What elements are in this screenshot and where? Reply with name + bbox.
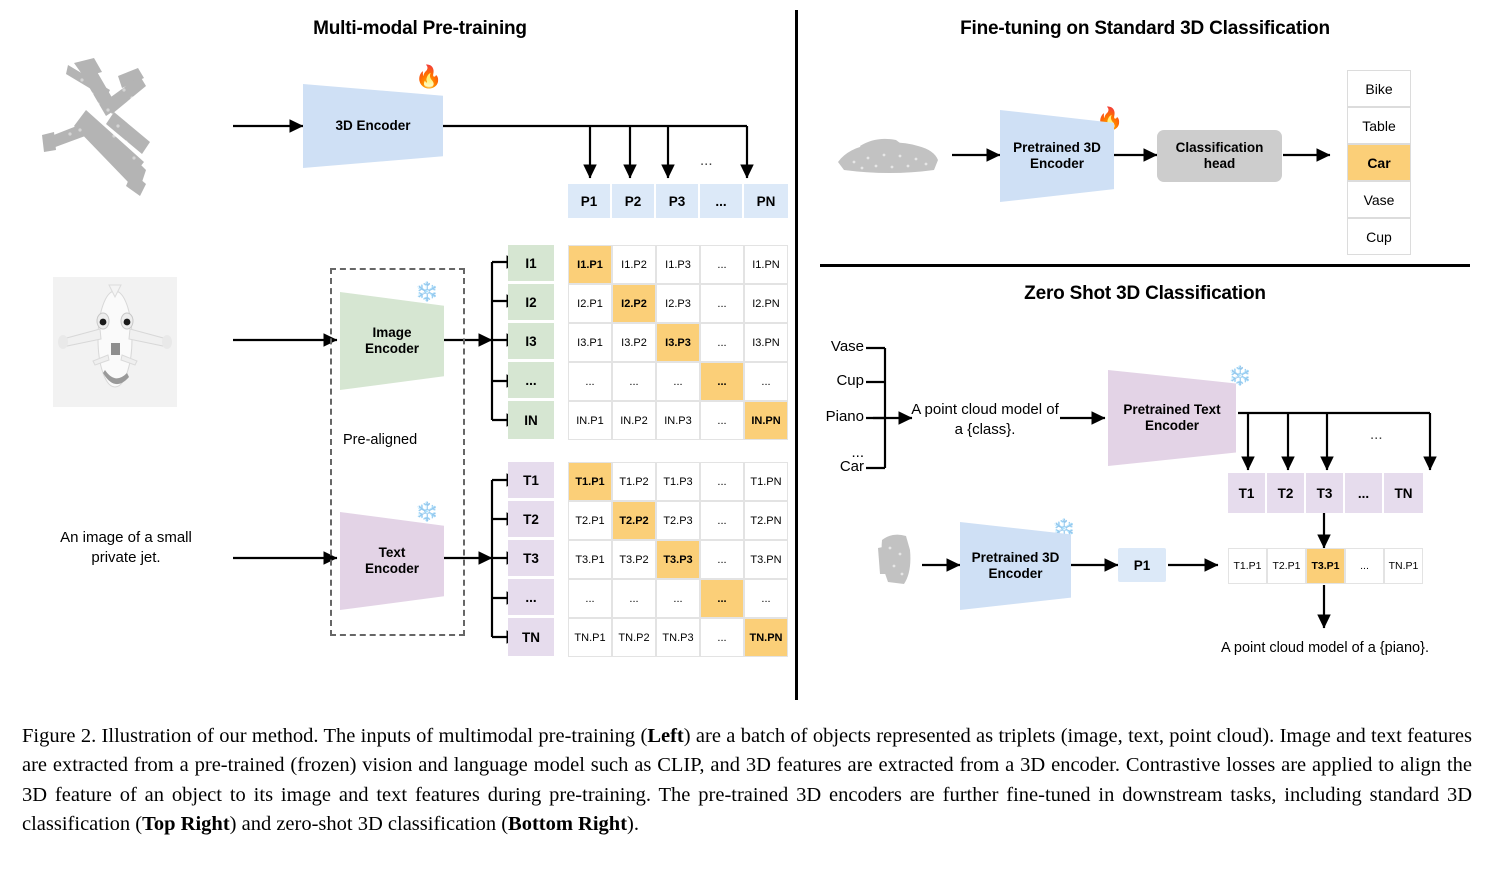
zs-sim-cell-2: T3.P1 (1306, 548, 1345, 584)
pretrained-3d-encoder-label-topright: Pretrained 3DEncoder (1013, 140, 1101, 171)
text-matrix-cell-4-4: TN.PN (744, 618, 788, 657)
snowflake-emoji-image-encoder: ❄️ (415, 283, 439, 302)
text-matrix-cell-0-3: ... (700, 462, 744, 501)
text-matrix-cell-4-0: TN.P1 (568, 618, 612, 657)
airplane-point-cloud (22, 50, 222, 210)
text-matrix-cell-2-1: T3.P2 (612, 540, 656, 579)
text-tag-ellipsis: ... (508, 579, 554, 617)
zs-text-tag-t1: T1 (1228, 473, 1267, 513)
fire-emoji-pretrain: 🔥 (415, 66, 442, 88)
image-matrix-cell-1-4: I2.PN (744, 284, 788, 323)
image-matrix-cell-0-0: I1.P1 (568, 245, 612, 284)
image-matrix-cell-4-1: IN.P2 (612, 401, 656, 440)
image-matrix-cell-0-4: I1.PN (744, 245, 788, 284)
text-matrix-cell-1-1: T2.P2 (612, 501, 656, 540)
text-matrix-cell-3-3: ... (700, 579, 744, 618)
zs-text-tag-...: ... (1345, 473, 1384, 513)
prompt-template-text: A point cloud model of a {class}. (905, 400, 1065, 441)
classification-head-box: Classificationhead (1157, 130, 1282, 182)
text-matrix-cell-0-2: T1.P3 (656, 462, 700, 501)
image-matrix-cell-0-3: ... (700, 245, 744, 284)
caption-bold-topright: Top Right (142, 813, 230, 835)
image-matrix-cell-4-4: IN.PN (744, 401, 788, 440)
prealigned-label: Pre-aligned (343, 432, 417, 448)
text-matrix-cell-1-4: T2.PN (744, 501, 788, 540)
text-matrix-cell-2-0: T3.P1 (568, 540, 612, 579)
text-matrix-cell-4-2: TN.P3 (656, 618, 700, 657)
image-matrix-cell-4-3: ... (700, 401, 744, 440)
point-feature-p1-zeroshot: P1 (1118, 548, 1166, 582)
image-matrix-cell-1-3: ... (700, 284, 744, 323)
image-tag-i2: I2 (508, 284, 554, 322)
figure-caption: Figure 2. Illustration of our method. Th… (22, 722, 1472, 839)
image-tag-ellipsis: ... (508, 362, 554, 400)
text-input-caption: An image of a small private jet. (36, 528, 216, 569)
encoder-3d-box: 3D Encoder (303, 84, 443, 168)
image-matrix-cell-2-3: ... (700, 323, 744, 362)
point-row-ellipsis-top: ... (700, 152, 713, 169)
text-tag-tn: TN (508, 618, 554, 656)
zeroshot-result-text: A point cloud model of a {piano}. (1200, 640, 1450, 656)
text-tag-t2: T2 (508, 501, 554, 539)
zs-bus-ellipsis: ... (1370, 426, 1383, 443)
zs-class-vase: Vase (820, 338, 864, 355)
caption-bold-bottomright: Bottom Right (508, 813, 627, 835)
image-matrix-cell-0-1: I1.P2 (612, 245, 656, 284)
car-point-cloud (830, 128, 945, 184)
caption-bold-left: Left (647, 725, 683, 747)
text-matrix-cell-2-4: T3.PN (744, 540, 788, 579)
class-item-cup[interactable]: Cup (1347, 218, 1411, 255)
point-feature-pn: PN (744, 184, 788, 218)
pretrained-3d-encoder-box-topright: Pretrained 3DEncoder (1000, 110, 1114, 202)
image-encoder-label: ImageEncoder (365, 325, 419, 356)
image-matrix-cell-3-4: ... (744, 362, 788, 401)
image-matrix-cell-1-2: I2.P3 (656, 284, 700, 323)
text-encoder-label: TextEncoder (365, 545, 419, 576)
image-matrix-cell-3-1: ... (612, 362, 656, 401)
zs-sim-cell-4: TN.P1 (1384, 548, 1423, 584)
zs-sim-cell-3: ... (1345, 548, 1384, 584)
image-matrix-cell-3-3: ... (700, 362, 744, 401)
text-matrix-cell-3-2: ... (656, 579, 700, 618)
point-feature-ellipsis: ... (700, 184, 744, 218)
image-matrix-cell-2-4: I3.PN (744, 323, 788, 362)
text-matrix-cell-3-0: ... (568, 579, 612, 618)
image-matrix-cell-4-2: IN.P3 (656, 401, 700, 440)
text-matrix-cell-3-4: ... (744, 579, 788, 618)
caption-part-3: ) and zero-shot 3D classification ( (230, 813, 508, 835)
image-matrix-cell-1-0: I2.P1 (568, 284, 612, 323)
rendered-jet-image (53, 277, 177, 407)
image-matrix-cell-3-0: ... (568, 362, 612, 401)
pretrained-3d-encoder-box-zeroshot: Pretrained 3DEncoder (960, 522, 1071, 610)
class-item-vase[interactable]: Vase (1347, 181, 1411, 218)
text-encoder-box: TextEncoder (340, 512, 444, 610)
pretrained-3d-encoder-label-zeroshot: Pretrained 3DEncoder (972, 550, 1060, 581)
image-matrix-cell-2-2: I3.P3 (656, 323, 700, 362)
text-tag-t1: T1 (508, 462, 554, 500)
class-item-car[interactable]: Car (1347, 144, 1411, 181)
text-matrix-cell-1-0: T2.P1 (568, 501, 612, 540)
text-matrix-cell-0-1: T1.P2 (612, 462, 656, 501)
horizontal-divider (820, 264, 1470, 267)
text-matrix-cell-1-2: T2.P3 (656, 501, 700, 540)
text-matrix-cell-4-1: TN.P2 (612, 618, 656, 657)
zs-text-tag-tn: TN (1384, 473, 1423, 513)
text-matrix-cell-2-2: T3.P3 (656, 540, 700, 579)
image-matrix-cell-1-1: I2.P2 (612, 284, 656, 323)
text-matrix-cell-4-3: ... (700, 618, 744, 657)
classification-head-label: Classificationhead (1176, 140, 1264, 172)
image-tag-i3: I3 (508, 323, 554, 361)
text-matrix-cell-2-3: ... (700, 540, 744, 579)
zs-class-cup: Cup (820, 372, 864, 389)
pretrained-text-encoder-label: Pretrained TextEncoder (1123, 402, 1220, 433)
caption-part-1: Figure 2. Illustration of our method. Th… (22, 725, 647, 747)
text-matrix-cell-3-1: ... (612, 579, 656, 618)
zs-text-tag-t2: T2 (1267, 473, 1306, 513)
class-item-table[interactable]: Table (1347, 107, 1411, 144)
zs-sim-cell-1: T2.P1 (1267, 548, 1306, 584)
zs-class-piano: Piano (820, 408, 864, 425)
image-tag-i1: I1 (508, 245, 554, 283)
panel-title-zeroshot: Zero Shot 3D Classification (910, 283, 1380, 305)
image-matrix-cell-0-2: I1.P3 (656, 245, 700, 284)
vertical-divider (795, 10, 798, 700)
text-matrix-cell-0-4: T1.PN (744, 462, 788, 501)
point-feature-p2: P2 (612, 184, 656, 218)
image-matrix-cell-2-1: I3.P2 (612, 323, 656, 362)
text-matrix-cell-1-3: ... (700, 501, 744, 540)
snowflake-emoji-text-encoder: ❄️ (415, 503, 439, 522)
point-feature-p1: P1 (568, 184, 612, 218)
point-feature-p3: P3 (656, 184, 700, 218)
pretrained-text-encoder-box: Pretrained TextEncoder (1108, 370, 1236, 466)
panel-title-pretraining: Multi-modal Pre-training (240, 18, 600, 40)
image-matrix-cell-2-0: I3.P1 (568, 323, 612, 362)
piano-point-cloud (876, 528, 932, 590)
caption-part-4: ). (627, 813, 639, 835)
text-tag-t3: T3 (508, 540, 554, 578)
encoder-3d-label: 3D Encoder (335, 118, 410, 134)
image-matrix-cell-4-0: IN.P1 (568, 401, 612, 440)
zs-class-car: Car (820, 458, 864, 475)
image-encoder-box: ImageEncoder (340, 292, 444, 390)
image-matrix-cell-3-2: ... (656, 362, 700, 401)
zs-sim-cell-0: T1.P1 (1228, 548, 1267, 584)
zs-text-tag-t3: T3 (1306, 473, 1345, 513)
text-matrix-cell-0-0: T1.P1 (568, 462, 612, 501)
image-tag-in: IN (508, 401, 554, 439)
panel-title-finetuning: Fine-tuning on Standard 3D Classificatio… (880, 18, 1410, 40)
class-item-bike[interactable]: Bike (1347, 70, 1411, 107)
